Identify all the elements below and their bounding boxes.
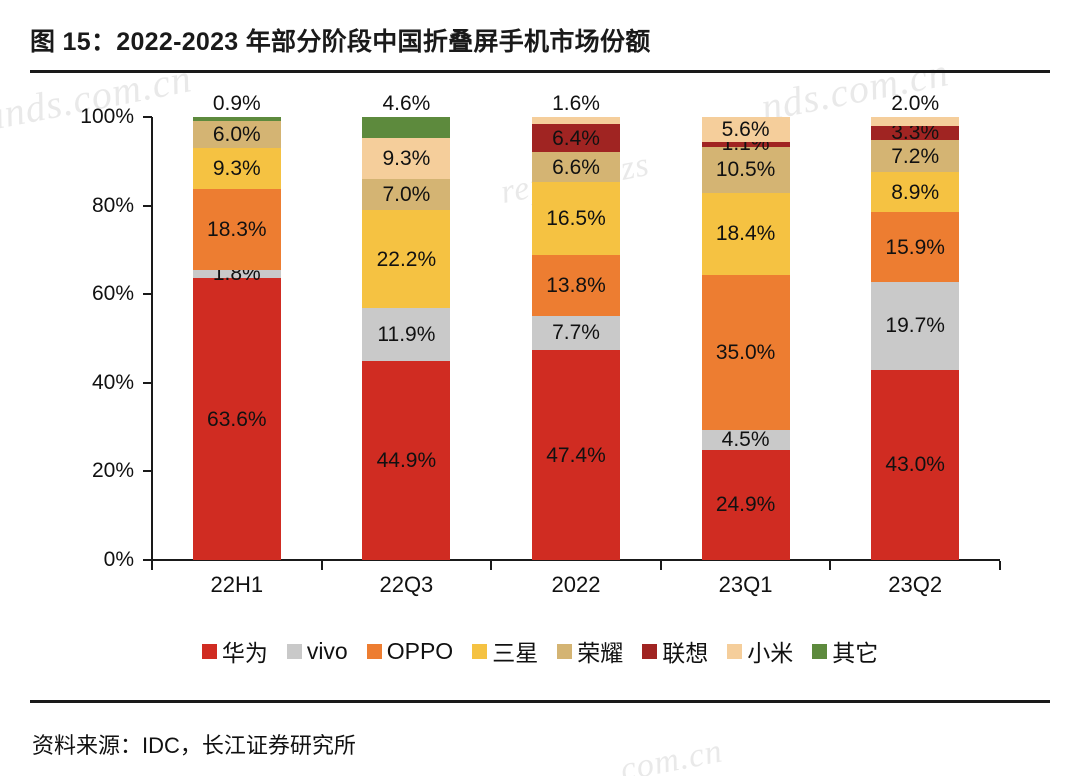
y-axis-tick <box>143 293 152 295</box>
legend-item[interactable]: 三星 <box>472 634 538 668</box>
bar-segment[interactable]: 7.0% <box>362 179 450 210</box>
bar-segment-label: 7.2% <box>891 146 939 167</box>
legend-swatch-icon <box>727 644 742 659</box>
bar-stack[interactable]: 44.9%11.9%22.2%7.0%9.3%4.6% <box>362 117 450 560</box>
bar-segment-label: 47.4% <box>546 445 606 466</box>
legend-label: 其它 <box>832 634 878 668</box>
bar-segment-label: 4.5% <box>722 429 770 450</box>
legend-item[interactable]: vivo <box>287 638 348 665</box>
legend-swatch-icon <box>202 644 217 659</box>
legend-label: 荣耀 <box>577 634 623 668</box>
bar-segment[interactable]: 6.4% <box>532 124 620 152</box>
bar-segment[interactable]: 4.6% <box>362 117 450 137</box>
x-axis-tick <box>999 561 1001 570</box>
x-axis-category-label: 23Q1 <box>719 572 773 598</box>
source-note: 资料来源：IDC，长江证券研究所 <box>32 728 356 760</box>
x-axis-tick <box>490 561 492 570</box>
bar-segment[interactable]: 0.9% <box>193 117 281 121</box>
legend-swatch-icon <box>472 644 487 659</box>
y-axis-tick <box>143 116 152 118</box>
title-divider <box>30 70 1050 73</box>
x-axis-category-label: 23Q2 <box>888 572 942 598</box>
stacked-bar-chart: 0%20%40%60%80%100% 22H122Q3202223Q123Q2 … <box>0 96 1080 616</box>
bar-segment[interactable]: 1.1% <box>702 142 790 147</box>
legend-swatch-icon <box>287 644 302 659</box>
bar-segment-label: 44.9% <box>377 450 437 471</box>
bar-segment[interactable]: 11.9% <box>362 308 450 361</box>
bar-segment[interactable]: 35.0% <box>702 275 790 430</box>
bar-segment[interactable]: 8.9% <box>871 172 959 211</box>
legend-item[interactable]: OPPO <box>367 638 453 665</box>
y-axis-tick <box>143 382 152 384</box>
bar-segment-label: 10.5% <box>716 159 776 180</box>
bar-segment[interactable]: 6.6% <box>532 152 620 181</box>
bar-stack[interactable]: 63.6%1.8%18.3%9.3%6.0%0.9% <box>193 117 281 560</box>
legend-item[interactable]: 其它 <box>812 634 878 668</box>
legend-item[interactable]: 荣耀 <box>557 634 623 668</box>
y-axis-tick-label: 40% <box>46 371 134 395</box>
watermark-text: com.cn <box>617 732 726 776</box>
legend-item[interactable]: 小米 <box>727 634 793 668</box>
bar-segment[interactable]: 9.3% <box>362 138 450 179</box>
legend-label: 小米 <box>747 634 793 668</box>
bar-top-label: 2.0% <box>891 93 939 114</box>
figure-title: 图 15：2022-2023 年部分阶段中国折叠屏手机市场份额 <box>30 22 651 58</box>
bar-segment-label: 18.4% <box>716 223 776 244</box>
x-axis-tick <box>321 561 323 570</box>
legend-item[interactable]: 联想 <box>642 634 708 668</box>
bar-segment-label: 5.6% <box>722 119 770 140</box>
bar-segment[interactable]: 9.3% <box>193 148 281 189</box>
chart-legend: 华为vivoOPPO三星荣耀联想小米其它 <box>0 634 1080 668</box>
bar-segment[interactable]: 1.6% <box>532 117 620 124</box>
bar-segment[interactable]: 6.0% <box>193 121 281 148</box>
legend-item[interactable]: 华为 <box>202 634 268 668</box>
y-axis-tick <box>143 205 152 207</box>
bar-segment-label: 18.3% <box>207 219 267 240</box>
bar-segment-label: 11.9% <box>377 324 435 345</box>
bar-segment-label: 7.0% <box>382 184 430 205</box>
bar-segment[interactable]: 1.8% <box>193 270 281 278</box>
bar-segment[interactable]: 43.0% <box>871 370 959 560</box>
bar-segment[interactable]: 4.5% <box>702 430 790 450</box>
bar-segment-label: 9.3% <box>213 158 261 179</box>
legend-label: vivo <box>307 638 348 665</box>
bar-segment-label: 24.9% <box>716 494 776 515</box>
legend-label: 联想 <box>662 634 708 668</box>
legend-swatch-icon <box>812 644 827 659</box>
legend-label: OPPO <box>387 638 453 665</box>
figure-page: unds.com.cn nds.com.cn report@zs com.cn … <box>0 0 1080 776</box>
x-axis-category-label: 22Q3 <box>379 572 433 598</box>
y-axis-tick-label: 80% <box>46 194 134 218</box>
bar-segment[interactable]: 7.2% <box>871 140 959 172</box>
bar-segment[interactable]: 47.4% <box>532 350 620 560</box>
bar-segment[interactable]: 15.9% <box>871 212 959 282</box>
y-axis-tick-label: 60% <box>46 282 134 306</box>
bar-stack[interactable]: 24.9%4.5%35.0%18.4%10.5%1.1%5.6% <box>702 117 790 560</box>
bar-segment[interactable]: 18.3% <box>193 189 281 270</box>
x-axis-tick <box>829 561 831 570</box>
legend-label: 华为 <box>222 634 268 668</box>
bar-segment-label: 15.9% <box>885 237 945 258</box>
bar-segment-label: 7.7% <box>552 322 600 343</box>
plot-area: 63.6%1.8%18.3%9.3%6.0%0.9%44.9%11.9%22.2… <box>152 117 1000 560</box>
bar-segment-label: 6.0% <box>213 124 261 145</box>
bar-segment-label: 8.9% <box>891 182 939 203</box>
bar-segment-label: 19.7% <box>885 315 945 336</box>
bar-segment[interactable]: 24.9% <box>702 450 790 560</box>
bar-stack[interactable]: 47.4%7.7%13.8%16.5%6.6%6.4%1.6% <box>532 117 620 560</box>
bar-segment-label: 16.5% <box>546 208 606 229</box>
bar-segment[interactable]: 18.4% <box>702 193 790 275</box>
bar-segment-label: 9.3% <box>382 148 430 169</box>
bar-segment[interactable]: 13.8% <box>532 255 620 316</box>
bar-stack[interactable]: 43.0%19.7%15.9%8.9%7.2%3.3%2.0% <box>871 117 959 560</box>
y-axis-tick-label: 100% <box>46 105 134 129</box>
footer-divider <box>30 700 1050 703</box>
bar-segment-label: 6.4% <box>552 128 600 149</box>
x-axis-category-label: 2022 <box>552 572 601 598</box>
bar-top-label: 0.9% <box>213 93 261 114</box>
bar-top-label: 4.6% <box>382 93 430 114</box>
bar-segment-label: 13.8% <box>546 275 606 296</box>
bar-segment[interactable]: 19.7% <box>871 282 959 369</box>
bar-segment[interactable]: 5.6% <box>702 117 790 142</box>
y-axis-tick-label: 0% <box>46 548 134 572</box>
x-axis-category-label: 22H1 <box>211 572 264 598</box>
bar-segment[interactable]: 3.3% <box>871 126 959 141</box>
y-axis-tick <box>143 470 152 472</box>
legend-swatch-icon <box>367 644 382 659</box>
legend-label: 三星 <box>492 634 538 668</box>
bar-segment[interactable]: 44.9% <box>362 361 450 560</box>
bar-top-label: 1.6% <box>552 93 600 114</box>
bar-segment[interactable]: 63.6% <box>193 278 281 560</box>
bar-segment[interactable]: 7.7% <box>532 316 620 350</box>
x-axis-tick <box>660 561 662 570</box>
bar-segment-label: 35.0% <box>716 342 776 363</box>
x-axis-tick <box>151 561 153 570</box>
y-axis-tick-label: 20% <box>46 459 134 483</box>
bar-segment-label: 22.2% <box>377 249 437 270</box>
bar-segment-label: 6.6% <box>552 157 600 178</box>
legend-swatch-icon <box>642 644 657 659</box>
bar-segment[interactable]: 2.0% <box>871 117 959 126</box>
bar-segment-label: 63.6% <box>207 409 267 430</box>
bar-segment[interactable]: 22.2% <box>362 210 450 308</box>
legend-swatch-icon <box>557 644 572 659</box>
bar-segment[interactable]: 16.5% <box>532 182 620 255</box>
bar-segment-label: 43.0% <box>885 454 945 475</box>
